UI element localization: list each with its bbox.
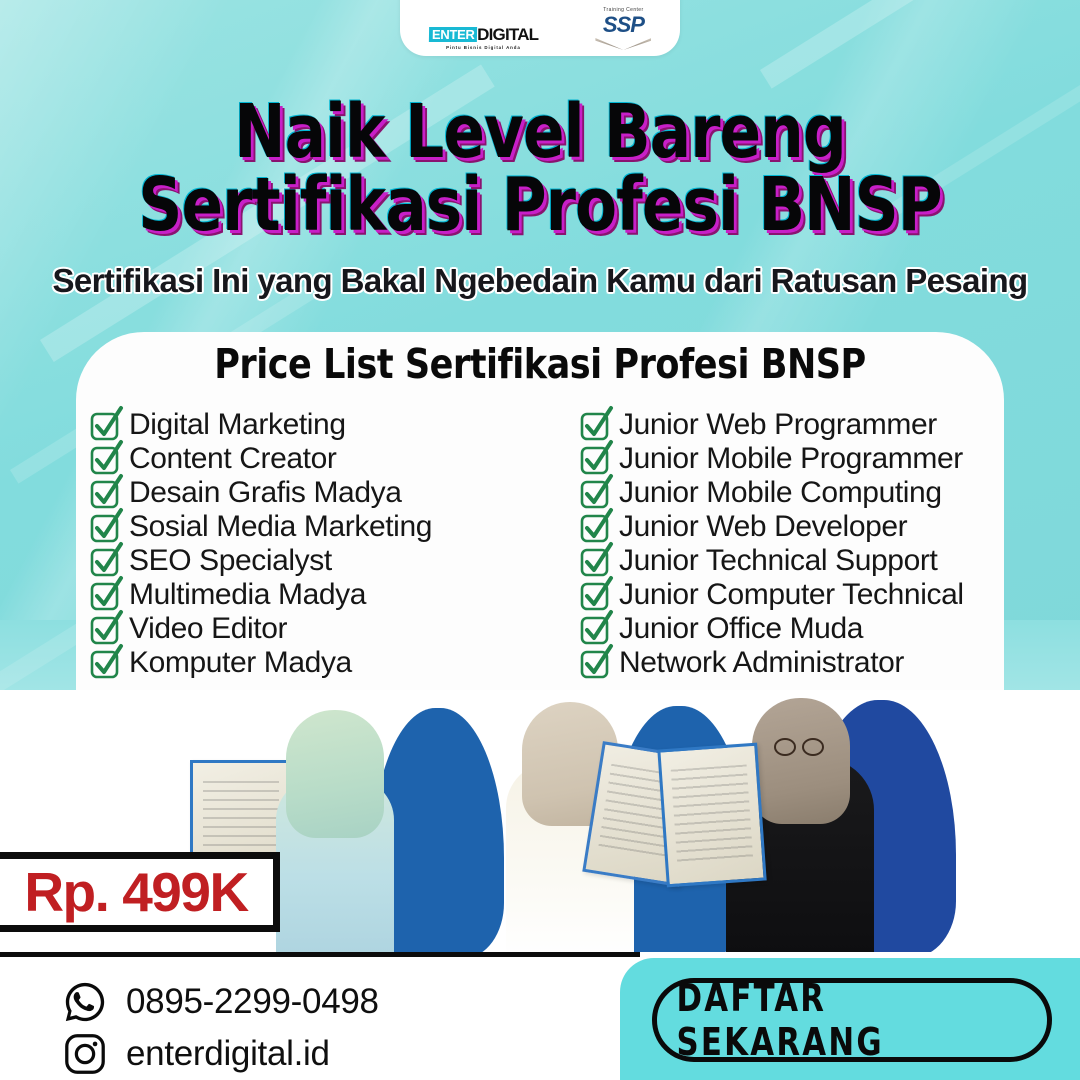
- pricelist-item-label: Desain Grafis Madya: [129, 476, 402, 510]
- check-icon: [580, 614, 612, 644]
- pricelist-item-label: Sosial Media Marketing: [129, 510, 432, 544]
- ssp-chevron-icon: [595, 38, 651, 50]
- enter-digital-logo: ENTER DIGITAL Pintu Bisnis Digital Anda: [429, 26, 539, 50]
- pricelist-column-right: Junior Web ProgrammerJunior Mobile Progr…: [580, 408, 1018, 680]
- check-icon: [580, 478, 612, 508]
- subheadline: Sertifikasi Ini yang Bakal Ngebedain Kam…: [0, 262, 1080, 300]
- pricelist-item-label: Junior Mobile Computing: [619, 476, 942, 510]
- pricelist-item-label: Junior Web Programmer: [619, 408, 937, 442]
- register-button-label: DAFTAR SEKARANG: [677, 976, 1028, 1064]
- pricelist-item: Desain Grafis Madya: [90, 476, 580, 510]
- pricelist-item-label: Content Creator: [129, 442, 336, 476]
- pricelist-item: Junior Mobile Programmer: [580, 442, 1018, 476]
- headline: Naik Level Bareng Sertifikasi Profesi BN…: [43, 96, 1037, 241]
- pricelist-title: Price List Sertifikasi Profesi BNSP: [27, 340, 1053, 388]
- check-icon: [90, 614, 122, 644]
- pricelist-item-label: SEO Specialyst: [129, 544, 332, 578]
- poster-root: ENTER DIGITAL Pintu Bisnis Digital Anda …: [0, 0, 1080, 1080]
- check-icon: [90, 478, 122, 508]
- whatsapp-icon: [62, 979, 108, 1025]
- pricelist-item: Content Creator: [90, 442, 580, 476]
- pricelist-item-label: Komputer Madya: [129, 646, 352, 680]
- pricelist-item: Multimedia Madya: [90, 578, 580, 612]
- check-icon: [580, 580, 612, 610]
- pricelist-item-label: Junior Technical Support: [619, 544, 937, 578]
- ssp-logo: Training Center SSP: [595, 8, 651, 50]
- pricelist-item-label: Video Editor: [129, 612, 287, 646]
- pricelist-item-label: Junior Web Developer: [619, 510, 907, 544]
- instagram-contact[interactable]: enterdigital.id: [62, 1028, 379, 1080]
- enter-digital-tagline: Pintu Bisnis Digital Anda: [429, 46, 539, 50]
- pricelist-column-left: Digital MarketingContent CreatorDesain G…: [76, 408, 580, 680]
- check-icon: [90, 512, 122, 542]
- enter-badge: ENTER: [428, 27, 476, 42]
- glasses-icon: [774, 738, 824, 752]
- whatsapp-contact[interactable]: 0895-2299-0498: [62, 976, 379, 1028]
- pricelist-item-label: Network Administrator: [619, 646, 904, 680]
- person-photo: [286, 710, 384, 838]
- instagram-handle: enterdigital.id: [126, 1034, 330, 1074]
- pricelist-item: Junior Web Programmer: [580, 408, 1018, 442]
- price-badge: Rp. 499K: [0, 852, 280, 932]
- check-icon: [90, 546, 122, 576]
- footer-divider: [0, 952, 640, 957]
- check-icon: [90, 444, 122, 474]
- headline-line-2: Sertifikasi Profesi BNSP: [43, 169, 1037, 242]
- pricelist-item-label: Junior Mobile Programmer: [619, 442, 963, 476]
- pricelist-item: Junior Office Muda: [580, 612, 1018, 646]
- check-icon: [580, 546, 612, 576]
- pricelist-item: SEO Specialyst: [90, 544, 580, 578]
- pricelist-item-label: Digital Marketing: [129, 408, 346, 442]
- check-icon: [580, 410, 612, 440]
- whatsapp-number: 0895-2299-0498: [126, 982, 379, 1022]
- check-icon: [90, 410, 122, 440]
- certificate-photo: [657, 743, 766, 888]
- pricelist-item: Komputer Madya: [90, 646, 580, 680]
- check-icon: [580, 444, 612, 474]
- pricelist-columns: Digital MarketingContent CreatorDesain G…: [76, 408, 1004, 680]
- pricelist-item: Junior Computer Technical: [580, 578, 1018, 612]
- contact-list: 0895-2299-0498 enterdigital.id: [62, 976, 379, 1080]
- pricelist-item: Network Administrator: [580, 646, 1018, 680]
- register-button[interactable]: DAFTAR SEKARANG: [652, 978, 1052, 1062]
- check-icon: [580, 512, 612, 542]
- pricelist-item-label: Junior Computer Technical: [619, 578, 964, 612]
- pricelist-item-label: Multimedia Madya: [129, 578, 366, 612]
- pricelist-item: Sosial Media Marketing: [90, 510, 580, 544]
- pricelist-item-label: Junior Office Muda: [619, 612, 863, 646]
- check-icon: [580, 648, 612, 678]
- check-icon: [90, 580, 122, 610]
- instagram-icon: [62, 1031, 108, 1077]
- pricelist-item: Video Editor: [90, 612, 580, 646]
- pricelist-item: Digital Marketing: [90, 408, 580, 442]
- person-photo: [752, 698, 850, 824]
- digital-word: DIGITAL: [477, 26, 538, 43]
- pricelist-item: Junior Mobile Computing: [580, 476, 1018, 510]
- price-amount: Rp. 499K: [24, 860, 247, 924]
- pricelist-item: Junior Web Developer: [580, 510, 1018, 544]
- pricelist-item: Junior Technical Support: [580, 544, 1018, 578]
- logo-bar: ENTER DIGITAL Pintu Bisnis Digital Anda …: [400, 0, 680, 56]
- check-icon: [90, 648, 122, 678]
- ssp-wordmark: SSP: [595, 14, 651, 36]
